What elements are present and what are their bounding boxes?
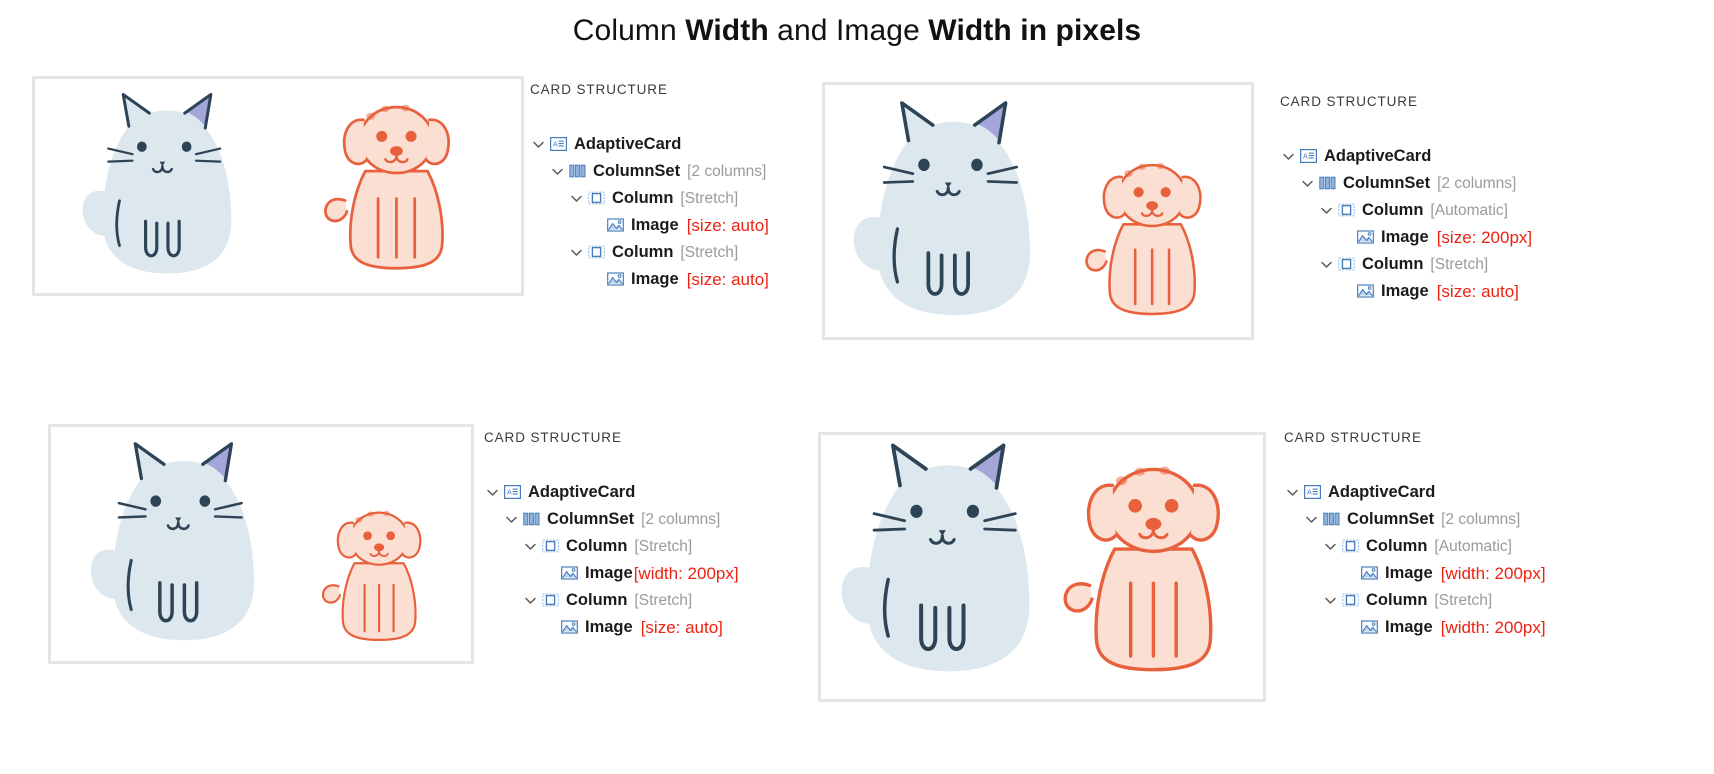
adaptive-card-icon: A xyxy=(1304,485,1321,500)
cat-image-slot xyxy=(831,91,1059,331)
tree-row[interactable]: Column[Stretch] xyxy=(1280,251,1580,278)
column-icon xyxy=(588,191,605,206)
column-icon xyxy=(1338,203,1355,218)
tree-node-annotation: [width: 200px] xyxy=(1441,618,1546,638)
tree-node-meta: [Stretch] xyxy=(634,538,692,556)
tree-header: CARD STRUCTURE xyxy=(1280,94,1580,109)
tree-header: CARD STRUCTURE xyxy=(484,430,784,445)
image-icon xyxy=(561,566,578,581)
card-preview xyxy=(32,76,524,296)
chevron-down-icon[interactable] xyxy=(484,484,501,501)
tree-node-meta: [Stretch] xyxy=(680,244,738,262)
tree-node-meta: [Automatic] xyxy=(1430,202,1508,220)
tree-row[interactable]: ColumnSet[2 columns] xyxy=(484,506,784,533)
tree-node-label: ColumnSet xyxy=(1347,510,1434,529)
svg-text:A: A xyxy=(553,142,558,149)
chevron-down-icon[interactable] xyxy=(1322,538,1339,555)
dog-illustration xyxy=(1076,141,1228,331)
card-preview xyxy=(818,432,1266,702)
tree-node-label: Column xyxy=(612,243,673,262)
tree-node-meta: [Automatic] xyxy=(1434,538,1512,556)
image-icon xyxy=(607,218,624,233)
cat-image-slot xyxy=(41,85,278,287)
chevron-down-icon[interactable] xyxy=(530,136,547,153)
tree-node-label: Column xyxy=(566,537,627,556)
card-structure-tree: CARD STRUCTURE AAdaptiveCardColumnSet[2 … xyxy=(530,82,820,293)
tree-rows: AAdaptiveCardColumnSet[2 columns]Column[… xyxy=(530,131,820,293)
tree-node-label: Column xyxy=(1366,591,1427,610)
column-set-icon xyxy=(569,164,586,179)
chevron-down-icon[interactable] xyxy=(522,538,539,555)
tree-row[interactable]: Image[width: 200px] xyxy=(1284,560,1604,587)
tree-node-label: AdaptiveCard xyxy=(1324,147,1431,166)
page-title-part1: Column xyxy=(573,14,685,47)
tree-row[interactable]: Column[Stretch] xyxy=(530,239,820,266)
svg-text:A: A xyxy=(1307,490,1312,497)
cat-illustration xyxy=(840,91,1050,331)
tree-node-meta: [2 columns] xyxy=(687,163,766,181)
tree-node-label: ColumnSet xyxy=(547,510,634,529)
tree-row[interactable]: AAdaptiveCard xyxy=(484,479,784,506)
tree-row[interactable]: Image[size: 200px] xyxy=(1280,224,1580,251)
tree-header: CARD STRUCTURE xyxy=(530,82,820,97)
column-set-icon xyxy=(1319,176,1336,191)
tree-node-meta: [2 columns] xyxy=(1441,511,1520,529)
adaptive-card-icon: A xyxy=(550,137,567,152)
card-preview xyxy=(822,82,1254,340)
tree-row[interactable]: AAdaptiveCard xyxy=(530,131,820,158)
tree-row[interactable]: ColumnSet[2 columns] xyxy=(1284,506,1604,533)
tree-node-label: Image xyxy=(631,270,679,289)
image-icon xyxy=(1361,620,1378,635)
tree-row[interactable]: Image[size: auto] xyxy=(530,212,820,239)
svg-text:A: A xyxy=(1303,154,1308,161)
page-title-bold1: Width xyxy=(685,14,769,47)
column-icon xyxy=(588,245,605,260)
image-icon xyxy=(1361,566,1378,581)
tree-node-annotation: [size: auto] xyxy=(687,216,769,236)
dog-image-slot xyxy=(278,85,515,287)
tree-rows: AAdaptiveCardColumnSet[2 columns]Column[… xyxy=(484,479,784,641)
tree-row[interactable]: ColumnSet[2 columns] xyxy=(530,158,820,185)
column-icon xyxy=(1342,593,1359,608)
chevron-down-icon[interactable] xyxy=(503,511,520,528)
chevron-down-icon[interactable] xyxy=(1318,256,1335,273)
image-icon xyxy=(1357,284,1374,299)
chevron-down-icon[interactable] xyxy=(1303,511,1320,528)
tree-node-meta: [Stretch] xyxy=(680,190,738,208)
page-title-part2: and Image xyxy=(769,14,929,47)
tree-node-annotation: [size: 200px] xyxy=(1437,228,1532,248)
tree-node-label: ColumnSet xyxy=(1343,174,1430,193)
page-title: Column Width and Image Width in pixels xyxy=(0,14,1714,48)
dog-image-slot xyxy=(1059,91,1245,331)
tree-node-label: AdaptiveCard xyxy=(574,135,681,154)
tree-node-label: Image xyxy=(1381,228,1429,247)
chevron-down-icon[interactable] xyxy=(1318,202,1335,219)
tree-node-meta: [Stretch] xyxy=(1434,592,1492,610)
chevron-down-icon[interactable] xyxy=(1280,148,1297,165)
tree-row[interactable]: Column[Automatic] xyxy=(1280,197,1580,224)
tree-row[interactable]: Image[size: auto] xyxy=(530,266,820,293)
adaptive-card-icon: A xyxy=(1300,149,1317,164)
tree-row[interactable]: Image[size: auto] xyxy=(1280,278,1580,305)
svg-text:A: A xyxy=(507,490,512,497)
dog-illustration xyxy=(314,492,444,655)
tree-row[interactable]: ColumnSet[2 columns] xyxy=(1280,170,1580,197)
tree-node-meta: [2 columns] xyxy=(641,511,720,529)
tree-node-label: Image xyxy=(1385,564,1433,583)
tree-node-annotation: [size: auto] xyxy=(1437,282,1519,302)
tree-row[interactable]: Column[Automatic] xyxy=(1284,533,1604,560)
tree-node-label: AdaptiveCard xyxy=(528,483,635,502)
tree-row[interactable]: AAdaptiveCard xyxy=(1284,479,1604,506)
chevron-down-icon[interactable] xyxy=(1322,592,1339,609)
card-structure-tree: CARD STRUCTURE AAdaptiveCardColumnSet[2 … xyxy=(484,430,784,641)
tree-row[interactable]: Column[Stretch] xyxy=(1284,587,1604,614)
card-structure-tree: CARD STRUCTURE AAdaptiveCardColumnSet[2 … xyxy=(1284,430,1604,641)
tree-node-annotation: [width: 200px] xyxy=(634,564,739,584)
card-structure-tree: CARD STRUCTURE AAdaptiveCardColumnSet[2 … xyxy=(1280,94,1580,305)
card-inner xyxy=(831,91,1245,331)
cat-image-slot xyxy=(827,441,1051,693)
chevron-down-icon[interactable] xyxy=(568,244,585,261)
tree-header: CARD STRUCTURE xyxy=(1284,430,1604,445)
tree-rows: AAdaptiveCardColumnSet[2 columns]Column[… xyxy=(1280,143,1580,305)
tree-row[interactable]: Image[width: 200px] xyxy=(484,560,784,587)
tree-node-annotation: [width: 200px] xyxy=(1441,564,1546,584)
page-title-bold2: Width in pixels xyxy=(928,14,1141,47)
panel-bottom-left: CARD STRUCTURE AAdaptiveCardColumnSet[2 … xyxy=(48,424,808,674)
tree-node-meta: [Stretch] xyxy=(1430,256,1488,274)
tree-node-label: Column xyxy=(612,189,673,208)
tree-row[interactable]: Image[width: 200px] xyxy=(1284,614,1604,641)
card-inner xyxy=(827,441,1257,693)
tree-row[interactable]: Image[size: auto] xyxy=(484,614,784,641)
chevron-down-icon[interactable] xyxy=(549,163,566,180)
image-icon xyxy=(561,620,578,635)
tree-node-label: Column xyxy=(1366,537,1427,556)
card-preview xyxy=(48,424,474,664)
tree-node-label: AdaptiveCard xyxy=(1328,483,1435,502)
chevron-down-icon[interactable] xyxy=(1299,175,1316,192)
panel-top-right: CARD STRUCTURE AAdaptiveCardColumnSet[2 … xyxy=(822,76,1714,341)
adaptive-card-icon: A xyxy=(504,485,521,500)
dog-illustration xyxy=(1051,441,1256,693)
column-icon xyxy=(1342,539,1359,554)
tree-row[interactable]: Column[Stretch] xyxy=(530,185,820,212)
tree-node-label: ColumnSet xyxy=(593,162,680,181)
tree-node-label: Column xyxy=(1362,201,1423,220)
tree-node-label: Column xyxy=(566,591,627,610)
column-set-icon xyxy=(1323,512,1340,527)
column-icon xyxy=(1338,257,1355,272)
tree-node-annotation: [size: auto] xyxy=(687,270,769,290)
column-set-icon xyxy=(523,512,540,527)
chevron-down-icon[interactable] xyxy=(522,592,539,609)
cat-illustration xyxy=(71,85,248,287)
tree-node-label: Column xyxy=(1362,255,1423,274)
panel-top-left: CARD STRUCTURE AAdaptiveCardColumnSet[2 … xyxy=(32,76,822,306)
tree-node-meta: [Stretch] xyxy=(634,592,692,610)
panel-bottom-right: CARD STRUCTURE AAdaptiveCardColumnSet[2 … xyxy=(818,424,1714,684)
tree-node-label: Image xyxy=(1381,282,1429,301)
image-icon xyxy=(1357,230,1374,245)
column-icon xyxy=(542,539,559,554)
cat-image-slot xyxy=(57,433,294,655)
card-inner xyxy=(41,85,515,287)
dog-image-slot xyxy=(294,433,465,655)
tree-row[interactable]: Column[Stretch] xyxy=(484,587,784,614)
tree-row[interactable]: AAdaptiveCard xyxy=(1280,143,1580,170)
tree-row[interactable]: Column[Stretch] xyxy=(484,533,784,560)
chevron-down-icon[interactable] xyxy=(1284,484,1301,501)
dog-illustration xyxy=(314,85,479,287)
tree-rows: AAdaptiveCardColumnSet[2 columns]Column[… xyxy=(1284,479,1604,641)
card-inner xyxy=(57,433,465,655)
dog-image-slot xyxy=(1051,441,1257,693)
tree-node-label: Image xyxy=(585,618,633,637)
tree-node-label: Image xyxy=(585,564,633,583)
image-icon xyxy=(607,272,624,287)
tree-node-label: Image xyxy=(1385,618,1433,637)
tree-node-annotation: [size: auto] xyxy=(641,618,723,638)
chevron-down-icon[interactable] xyxy=(568,190,585,207)
tree-node-label: Image xyxy=(631,216,679,235)
cat-illustration xyxy=(78,433,272,655)
tree-node-meta: [2 columns] xyxy=(1437,175,1516,193)
cat-illustration xyxy=(827,441,1051,693)
column-icon xyxy=(542,593,559,608)
